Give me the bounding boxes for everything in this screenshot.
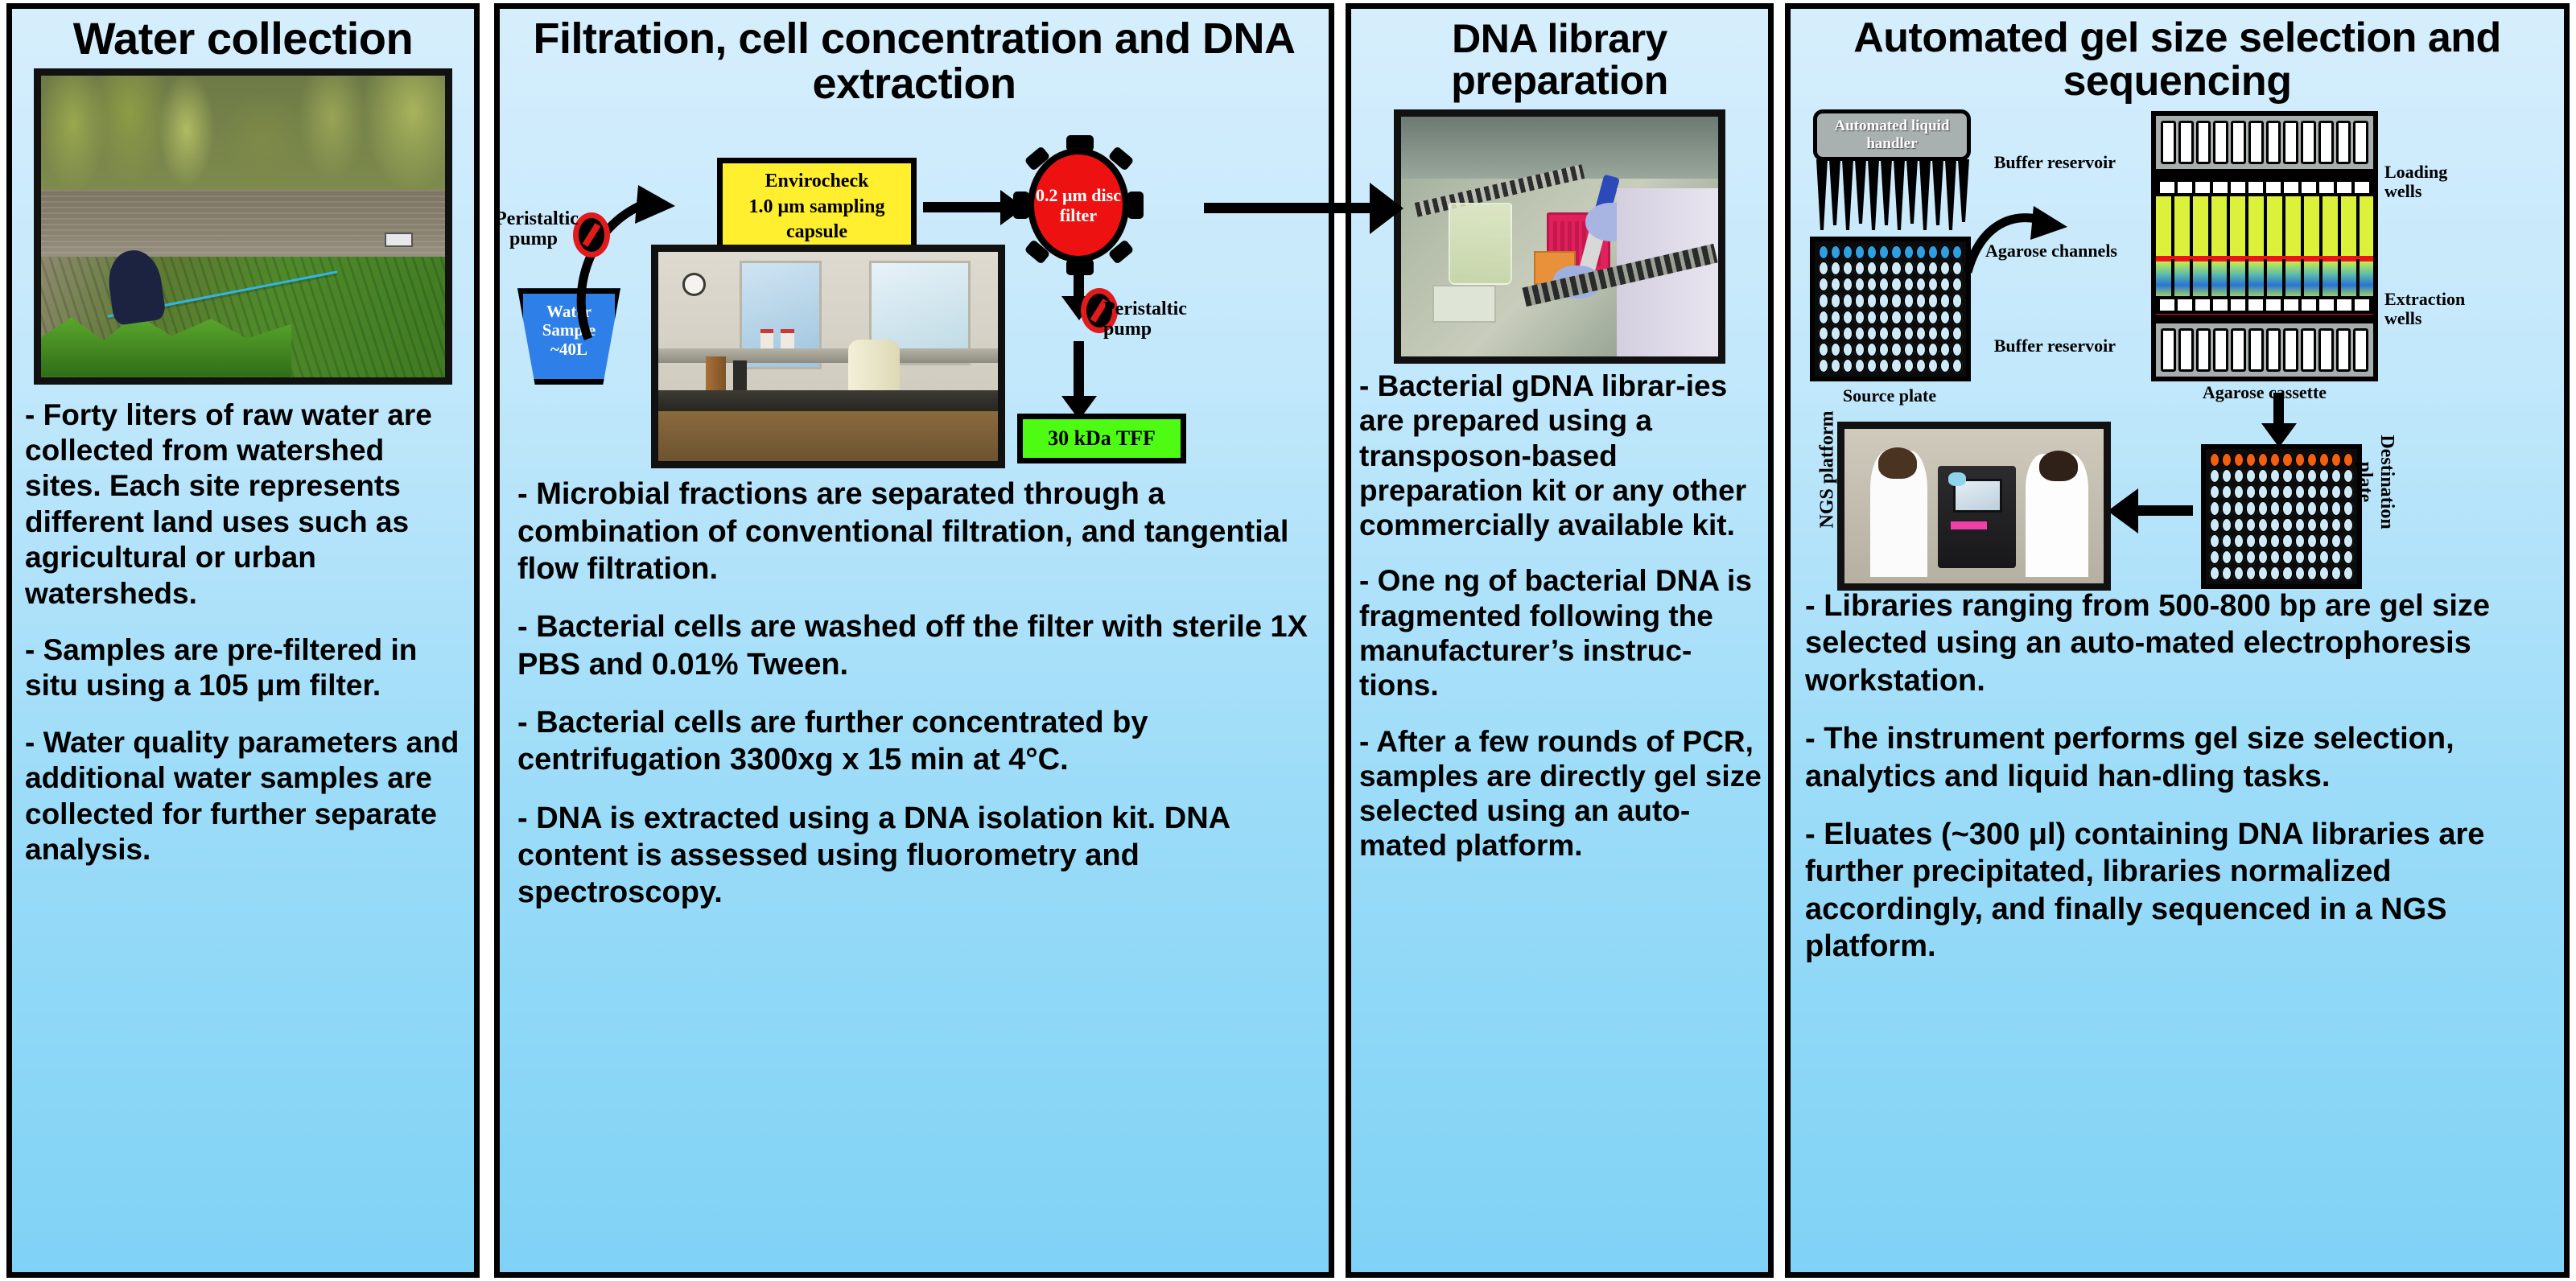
plate-well <box>2294 566 2306 581</box>
operator-left-head <box>1878 447 1917 478</box>
bullet-2: - The instrument performs gel size selec… <box>1805 720 2551 795</box>
plate-well <box>2269 500 2281 516</box>
paper-stack <box>1432 285 1496 323</box>
plate-well <box>2245 517 2257 533</box>
plate-well <box>2245 566 2257 581</box>
plate-well <box>2233 500 2244 516</box>
plate-well <box>2233 484 2244 500</box>
buffer-reservoir-top-label: Buffer reservoir <box>1914 153 2116 172</box>
plate-well <box>2318 566 2330 581</box>
buffer-slot <box>2353 121 2368 164</box>
plate-well <box>2281 452 2293 468</box>
cassette-well <box>2213 182 2228 193</box>
plate-well <box>2306 468 2318 484</box>
panel-4-text: - Libraries ranging from 500-800 bp are … <box>1791 581 2564 965</box>
lab-cabinet <box>658 411 998 461</box>
plate-well <box>1866 245 1877 260</box>
plate-well <box>1878 358 1890 373</box>
plate-well <box>1878 326 1890 341</box>
plate-well <box>1818 277 1829 292</box>
extraction-wells-row <box>2156 296 2373 314</box>
plate-well <box>1854 293 1865 308</box>
plate-well <box>1842 261 1853 276</box>
plate-well <box>2318 533 2330 549</box>
cassette-well <box>2355 182 2369 193</box>
plate-well <box>2209 500 2220 516</box>
panel-filtration: Filtration, cell concentration and DNA e… <box>494 3 1334 1278</box>
alh-line1: Automated liquid <box>1834 117 1949 135</box>
cassette-well <box>2337 299 2351 311</box>
plate-well <box>1927 293 1939 308</box>
plate-well <box>2209 452 2220 468</box>
tff-box: 30 kDa TFF <box>1017 414 1186 463</box>
disc-filter-line2: filter <box>1036 205 1121 225</box>
bullet-1: - Forty liters of raw water are collecte… <box>25 397 463 612</box>
plate-well <box>1818 358 1829 373</box>
plate-well <box>2318 517 2330 533</box>
plate-well <box>2306 566 2318 581</box>
plate-well <box>2343 517 2354 533</box>
destination-plate <box>2201 444 2362 589</box>
plate-well <box>1878 245 1890 260</box>
plate-well <box>2331 468 2342 484</box>
panel-dna-library-prep: DNA library preparation - Bacterial gDNA… <box>1346 3 1774 1278</box>
plate-well <box>1818 293 1829 308</box>
plate-well <box>1903 293 1914 308</box>
plate-well <box>1903 277 1914 292</box>
plate-well <box>1854 342 1865 357</box>
buffer-reservoir-bottom <box>2156 323 2373 377</box>
bullet-1: - Libraries ranging from 500-800 bp are … <box>1805 587 2551 699</box>
buffer-slot <box>2353 328 2368 372</box>
plate-well <box>2257 517 2269 533</box>
plate-well <box>2331 452 2342 468</box>
plate-well <box>2269 468 2281 484</box>
plate-well <box>2233 550 2244 565</box>
agarose-channels-gel <box>2156 196 2373 296</box>
plate-well <box>2306 550 2318 565</box>
buffer-slot <box>2231 121 2246 164</box>
plate-well <box>2331 517 2342 533</box>
plate-well <box>1830 277 1841 292</box>
bullet-2: - Bacterial cells are washed off the fil… <box>517 608 1314 683</box>
plate-well <box>2257 550 2269 565</box>
plate-well <box>2306 484 2318 500</box>
plate-well <box>2209 468 2220 484</box>
plate-well <box>1842 277 1853 292</box>
destination-plate-wells <box>2209 452 2354 581</box>
plate-well <box>2343 550 2354 565</box>
plate-well <box>1939 310 1951 325</box>
plate-well <box>2294 452 2306 468</box>
river-sampling-photo <box>34 68 452 385</box>
plate-well <box>1878 293 1890 308</box>
plate-well <box>2209 566 2220 581</box>
cassette-well <box>2213 299 2228 311</box>
plate-well <box>2221 533 2232 549</box>
cassette-well <box>2160 299 2174 311</box>
operator-right-head <box>2039 451 2078 481</box>
plate-well <box>1842 293 1853 308</box>
plate-well <box>1818 261 1829 276</box>
plate-well <box>2318 500 2330 516</box>
panel-2-text: - Microbial fractions are separated thro… <box>500 468 1329 912</box>
plate-well <box>1890 358 1902 373</box>
plate-well <box>1830 310 1841 325</box>
plate-well <box>1903 326 1914 341</box>
cassette-well <box>2284 299 2298 311</box>
cassette-well <box>2248 299 2263 311</box>
cassette-well <box>2178 182 2192 193</box>
cassette-well <box>2178 299 2192 311</box>
plate-well <box>1939 261 1951 276</box>
plate-well <box>1915 261 1927 276</box>
plate-well <box>1915 358 1927 373</box>
plate-well <box>1890 293 1902 308</box>
panel-title-gel-size-selection: Automated gel size selection and sequenc… <box>1791 9 2564 106</box>
plate-well <box>2257 500 2269 516</box>
bullet-3: - Water quality parameters and additiona… <box>25 725 463 868</box>
plate-well <box>2318 452 2330 468</box>
buffer-slot <box>2248 328 2264 372</box>
arrow-destination-plate-to-ngs <box>2135 505 2193 516</box>
plate-well <box>2221 468 2232 484</box>
plate-well <box>2245 500 2257 516</box>
envirocheck-capsule-box: Envirocheck 1.0 μm sampling capsule <box>717 158 917 256</box>
plate-well <box>2233 452 2244 468</box>
plate-well <box>2343 566 2354 581</box>
plate-well <box>1927 358 1939 373</box>
plate-well <box>1890 326 1902 341</box>
plate-well <box>2343 452 2354 468</box>
bullet-3: - After a few rounds of PCR, samples are… <box>1359 724 1762 863</box>
willow-trees <box>41 76 445 196</box>
plate-well <box>1939 293 1951 308</box>
cassette-well <box>2337 182 2351 193</box>
plate-well <box>1866 277 1877 292</box>
arrow-cassette-to-destination-plate <box>2273 393 2284 426</box>
plate-well <box>2331 533 2342 549</box>
buffer-slot <box>2161 328 2176 372</box>
plate-well <box>1915 277 1927 292</box>
cassette-well <box>2355 299 2369 311</box>
water-sample-label-line2: ~40L <box>550 340 587 360</box>
plate-well <box>2245 533 2257 549</box>
plate-well <box>1927 277 1939 292</box>
cassette-well <box>2284 182 2298 193</box>
plate-well <box>1927 261 1939 276</box>
plate-well <box>2257 452 2269 468</box>
plate-well <box>1842 342 1853 357</box>
plate-well <box>2209 484 2220 500</box>
bullet-3: - Eluates (~300 μl) containing DNA libra… <box>1805 816 2551 965</box>
panel-title-dna-library-prep: DNA library preparation <box>1351 9 1768 106</box>
plate-well <box>1842 326 1853 341</box>
plate-well <box>2233 517 2244 533</box>
plate-well <box>2245 484 2257 500</box>
buffer-reservoir-bottom-label: Buffer reservoir <box>1914 336 2116 356</box>
plate-well <box>2209 517 2220 533</box>
plate-well <box>2221 566 2232 581</box>
buffer-slot <box>2213 328 2228 372</box>
field-pump <box>385 233 413 248</box>
plate-well <box>1842 358 1853 373</box>
plate-well <box>1952 277 1963 292</box>
plate-well <box>1915 293 1927 308</box>
plate-well <box>2343 468 2354 484</box>
plate-well <box>1890 310 1902 325</box>
bullet-1: - Microbial fractions are separated thro… <box>517 476 1314 587</box>
plate-well <box>2294 517 2306 533</box>
panel-water-collection: Water collection - Forty liters of raw w… <box>6 3 480 1278</box>
loading-wells-row <box>2156 179 2373 196</box>
buffer-slot <box>2266 328 2281 372</box>
buffer-slot <box>2283 121 2298 164</box>
gloved-hand <box>1948 472 1967 486</box>
plate-well <box>1842 310 1853 325</box>
instrument-pink-label <box>1951 521 1987 529</box>
plate-well <box>1830 293 1841 308</box>
panel-3-text: - Bacterial gDNA librar-ies are prepared… <box>1351 364 1768 863</box>
plate-well <box>2306 500 2318 516</box>
plate-well <box>2343 484 2354 500</box>
arrow-capsule-to-disc-filter <box>923 202 1004 212</box>
plate-well <box>1842 245 1853 260</box>
plate-well <box>1903 342 1914 357</box>
plate-well <box>1952 310 1963 325</box>
agarose-cassette-label: Agarose cassette <box>2148 383 2381 402</box>
plate-well <box>1939 277 1951 292</box>
plate-well <box>1866 342 1877 357</box>
plate-well <box>2281 484 2293 500</box>
plate-well <box>2343 500 2354 516</box>
plate-well <box>1818 342 1829 357</box>
plate-well <box>2221 550 2232 565</box>
plate-well <box>1854 245 1865 260</box>
peristaltic-pump-1-label: Peristaltic pump <box>495 209 572 249</box>
plate-well <box>2331 500 2342 516</box>
plate-well <box>2343 533 2354 549</box>
plate-well <box>2281 533 2293 549</box>
plate-well <box>2257 484 2269 500</box>
plate-well <box>1818 326 1829 341</box>
ngs-platform-photo <box>1837 422 2111 591</box>
destination-plate-label: Destination plate <box>2354 414 2397 550</box>
plate-well <box>1818 310 1829 325</box>
cassette-well <box>2231 182 2245 193</box>
workflow-figure: Water collection - Forty liters of raw w… <box>0 0 2576 1281</box>
biosafety-cabinet-photo <box>1394 109 1725 364</box>
plate-well <box>2331 550 2342 565</box>
plate-well <box>2209 550 2220 565</box>
laboratory-bench-photo <box>651 245 1005 468</box>
plate-well <box>1939 358 1951 373</box>
plate-well <box>2221 484 2232 500</box>
plate-well <box>1890 342 1902 357</box>
plate-well <box>2233 533 2244 549</box>
envirocheck-line2: 1.0 μm sampling <box>749 195 885 220</box>
plate-well <box>1890 261 1902 276</box>
alh-line2: handler <box>1834 135 1949 153</box>
plate-well <box>2294 500 2306 516</box>
plate-well <box>2257 566 2269 581</box>
plate-well <box>1927 310 1939 325</box>
agarose-cassette <box>2151 111 2378 381</box>
plate-well <box>1878 261 1890 276</box>
plate-well <box>1866 310 1877 325</box>
cassette-well <box>2231 299 2245 311</box>
loading-wells-label: Loading wells <box>2384 163 2505 201</box>
lab-bench-top <box>658 390 998 411</box>
buffer-slot <box>2196 121 2211 164</box>
plate-well <box>2221 517 2232 533</box>
plate-well <box>2209 533 2220 549</box>
plate-well <box>2331 484 2342 500</box>
plate-well <box>1903 358 1914 373</box>
wall-clock <box>682 273 707 296</box>
plate-well <box>2294 550 2306 565</box>
agarose-channels-label: Agarose channels <box>1906 241 2117 261</box>
buffer-slot <box>2248 121 2264 164</box>
buffer-slot <box>2283 328 2298 372</box>
plate-well <box>2281 550 2293 565</box>
plate-well <box>2294 468 2306 484</box>
plate-well <box>1903 261 1914 276</box>
cassette-well <box>2319 182 2334 193</box>
peristaltic-pump-2-label: Peristaltic pump <box>1103 299 1208 340</box>
bullet-4: - DNA is extracted using a DNA isolation… <box>517 800 1314 912</box>
cassette-well <box>2266 182 2281 193</box>
plate-well <box>1830 326 1841 341</box>
buffer-slot <box>2178 328 2194 372</box>
bullet-2: - One ng of bacterial DNA is fragmented … <box>1359 563 1762 702</box>
plate-well <box>2318 468 2330 484</box>
plate-well <box>1890 277 1902 292</box>
arrow-panel2-to-panel3 <box>1204 203 1375 213</box>
plate-well <box>2281 566 2293 581</box>
plate-well <box>1830 261 1841 276</box>
envirocheck-line3: capsule <box>786 220 847 245</box>
reagent-bottle-2 <box>781 329 794 348</box>
bullet-2: - Samples are pre-filtered in situ using… <box>25 632 463 704</box>
bullet-1: - Bacterial gDNA librar-ies are prepared… <box>1359 369 1762 542</box>
plate-well <box>1830 342 1841 357</box>
buffer-slot <box>2301 121 2316 164</box>
buffer-slot <box>2196 328 2211 372</box>
plate-well <box>1890 245 1902 260</box>
cassette-well <box>2248 182 2263 193</box>
plate-well <box>2269 517 2281 533</box>
plate-well <box>2318 484 2330 500</box>
plate-well <box>2269 550 2281 565</box>
plate-well <box>2281 468 2293 484</box>
envirocheck-line1: Envirocheck <box>765 169 869 194</box>
arrow-disc-to-pump <box>1074 262 1084 299</box>
plate-well <box>2233 566 2244 581</box>
plate-well <box>1866 293 1877 308</box>
buffer-slot <box>2178 121 2194 164</box>
plate-well <box>1952 358 1963 373</box>
plate-well <box>1878 277 1890 292</box>
plate-well <box>2294 533 2306 549</box>
plate-well <box>2269 452 2281 468</box>
plate-well <box>1915 310 1927 325</box>
plate-well <box>2221 500 2232 516</box>
plate-well <box>2281 517 2293 533</box>
plate-well <box>1866 261 1877 276</box>
cassette-well <box>2302 299 2316 311</box>
buffer-slot <box>2213 121 2228 164</box>
ngs-platform-label: NGS platform <box>1817 397 1839 542</box>
gel-selection-diagram: Automated liquid handler Source plate <box>1794 106 2561 581</box>
plate-well <box>1866 358 1877 373</box>
panel-title-water-collection: Water collection <box>12 9 474 67</box>
plate-well <box>1854 358 1865 373</box>
waste-beaker <box>1449 203 1512 284</box>
plate-well <box>1854 277 1865 292</box>
buffer-slot <box>2161 121 2176 164</box>
cassette-well <box>2160 182 2174 193</box>
cassette-well <box>2319 299 2334 311</box>
disc-filter-line1: 0.2 μm disc <box>1036 185 1121 205</box>
panel-1-text: - Forty liters of raw water are collecte… <box>12 385 474 868</box>
buffer-slot <box>2336 328 2351 372</box>
cassette-well <box>2195 182 2210 193</box>
plate-well <box>2269 566 2281 581</box>
buffer-slot <box>2231 328 2246 372</box>
buffer-slot <box>2266 121 2281 164</box>
plate-well <box>2245 468 2257 484</box>
arrow-pump-to-tff <box>1074 341 1084 399</box>
cassette-well <box>2302 182 2316 193</box>
plate-well <box>2257 468 2269 484</box>
plate-well <box>1878 342 1890 357</box>
buffer-slot <box>2301 328 2316 372</box>
plate-well <box>1818 245 1829 260</box>
plate-well <box>1830 358 1841 373</box>
plate-well <box>2306 452 2318 468</box>
plate-well <box>2245 550 2257 565</box>
cassette-well <box>2195 299 2210 311</box>
cassette-well <box>2266 299 2281 311</box>
disc-filter-icon: 0.2 μm disc filter <box>1028 148 1129 262</box>
plate-well <box>2269 484 2281 500</box>
plate-well <box>1854 261 1865 276</box>
panel-title-filtration: Filtration, cell concentration and DNA e… <box>500 9 1329 109</box>
plate-well <box>2269 533 2281 549</box>
plate-well <box>2281 500 2293 516</box>
plate-well <box>2245 452 2257 468</box>
buffer-slot <box>2318 328 2334 372</box>
plate-well <box>1830 245 1841 260</box>
plate-well <box>2306 533 2318 549</box>
bullet-3: - Bacterial cells are further concentrat… <box>517 704 1314 779</box>
plate-well <box>2257 533 2269 549</box>
extraction-wells-label: Extraction wells <box>2384 290 2513 328</box>
plate-well <box>1854 310 1865 325</box>
plate-well <box>2331 566 2342 581</box>
plate-well <box>2318 550 2330 565</box>
reagent-bottle-1 <box>760 329 774 348</box>
buffer-reservoir-top <box>2156 116 2373 169</box>
plate-well <box>1952 261 1963 276</box>
plate-well <box>2294 484 2306 500</box>
plate-well <box>1878 310 1890 325</box>
plate-well <box>1952 293 1963 308</box>
buffer-slot <box>2318 121 2334 164</box>
plate-well <box>2306 517 2318 533</box>
plate-well <box>1903 310 1914 325</box>
